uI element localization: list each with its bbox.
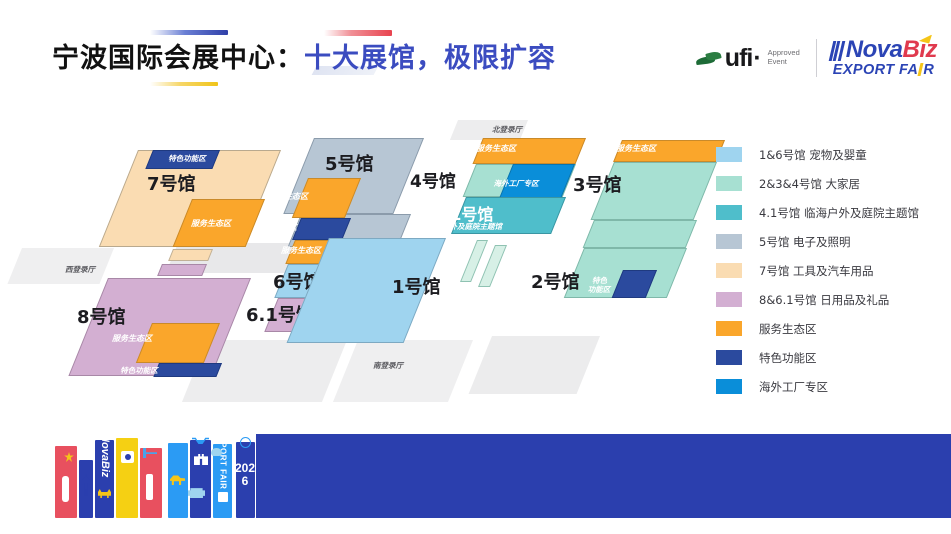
novabiz-tagline-left: EXPORT FA: [833, 62, 919, 78]
hall-4-label: 4号馆: [410, 167, 456, 192]
legend-swatch: [716, 350, 742, 365]
slide-footer: NovaBiz EXPORT FAIR 2026: [0, 428, 951, 534]
legend-swatch: [716, 234, 742, 249]
legend-swatch: [716, 176, 742, 191]
hall-7-service-label: 服务生态区: [175, 218, 247, 229]
footer-novabiz-text: NovaBiz: [99, 434, 111, 474]
legend-label: 5号馆 电子及照明: [759, 234, 850, 250]
hall-5-feature-label: 特色功能区: [243, 222, 313, 233]
footer-blue-bar: [256, 434, 951, 518]
legend-label: 7号馆 工具及汽车用品: [759, 263, 873, 279]
banner-strip-blue-person: [79, 460, 93, 518]
hall-5-service-label: 服务生态区: [252, 191, 324, 202]
hall-4-1-sub-label: 临海户外及庭院主题馆: [412, 221, 517, 232]
base-plate-bottom-right: [469, 336, 600, 394]
globe-icon: [240, 437, 251, 448]
hall-1-label: 1号馆: [392, 273, 441, 299]
legend-swatch: [716, 147, 742, 162]
hall-7-stub: [168, 249, 213, 261]
legend-hall-4-1[interactable]: 4.1号馆 临海户外及庭院主题馆: [716, 198, 946, 227]
slide-header: 宁波国际会展中心：十大展馆，极限扩容 ufi · Approved Event …: [0, 0, 951, 100]
page-title: 宁波国际会展中心：十大展馆，极限扩容: [52, 36, 556, 75]
base-plate-west: [7, 248, 114, 284]
legend-label: 海外工厂专区: [759, 379, 828, 395]
hall-3-block-mid[interactable]: [583, 220, 697, 248]
logo-divider: [816, 39, 817, 77]
ufi-logo: ufi · Approved Event: [696, 46, 816, 71]
south-entrance-label: 南登录厅: [373, 360, 403, 371]
page-title-blue: 十大展馆，极限扩容: [304, 43, 556, 74]
footer-banner-strips: NovaBiz EXPORT FAIR 2026: [55, 434, 260, 518]
hall-2-label: 2号馆: [531, 268, 580, 294]
legend-feature[interactable]: 特色功能区: [716, 343, 946, 372]
novabiz-tagline: EXPORT FAR: [833, 63, 937, 79]
novabiz-n: N: [846, 36, 863, 63]
hall-7-feature-label: 特色功能区: [152, 153, 222, 164]
legend-swatch: [716, 263, 742, 278]
floor-plan-map: 特色功能区 服务生态区 7号馆 服务生态区 特色功能区 8号馆 5号馆 服务生态…: [0, 108, 715, 408]
base-plate-bottom-mid: [333, 340, 473, 402]
footer-year-text: 2026: [233, 462, 257, 488]
legend-swatch: [716, 205, 742, 220]
decor-bar-yellow: [150, 82, 218, 86]
banner-strip-yellow: [116, 438, 138, 518]
legend-hall-7[interactable]: 7号馆 工具及汽车用品: [716, 256, 946, 285]
ufi-dot: ·: [753, 46, 761, 71]
hall-8-label: 8号馆: [77, 303, 126, 329]
cloud-icon: [211, 448, 222, 456]
ufi-wordmark: ufi: [725, 46, 753, 71]
ufi-leaf-icon: [696, 51, 722, 66]
hall-7-label: 7号馆: [147, 170, 196, 196]
legend-swatch: [716, 379, 742, 394]
suitcase-icon: [218, 492, 228, 502]
north-entrance-label: 北登录厅: [492, 124, 522, 135]
hall-3-service-label: 服务生态区: [600, 143, 672, 154]
logo-group: ufi · Approved Event NovaBiz EXPORT FAR: [696, 32, 937, 84]
legend-label: 特色功能区: [759, 350, 817, 366]
banner-strip-darkblue-1: [190, 440, 211, 518]
novabiz-wordmark: NovaBiz: [833, 38, 937, 62]
camera-lens-icon: [125, 454, 131, 460]
ufi-approved-event: Approved Event: [765, 49, 800, 66]
ufi-sub-line2: Event: [768, 58, 800, 67]
decor-bar-blue: [150, 30, 228, 35]
hall-4-service-label: 服务生态区: [460, 143, 532, 154]
legend-label: 8&6.1号馆 日用品及礼品: [759, 292, 889, 308]
legend-hall-2-3-4[interactable]: 2&3&4号馆 大家居: [716, 169, 946, 198]
hall-3-label: 3号馆: [573, 171, 622, 197]
slide-root: 宁波国际会展中心：十大展馆，极限扩容 ufi · Approved Event …: [0, 0, 951, 534]
legend-label: 4.1号馆 临海户外及庭院主题馆: [759, 205, 919, 221]
legend-hall-1-6[interactable]: 1&6号馆 宠物及婴童: [716, 140, 946, 169]
bottle-icon: [62, 476, 69, 502]
hall-2-feature-label-line2: 功能区: [579, 284, 619, 295]
lamp-icon: [146, 474, 153, 500]
legend-hall-8-6-1[interactable]: 8&6.1号馆 日用品及礼品: [716, 285, 946, 314]
novabiz-slash-icon: [831, 41, 843, 61]
legend-panel: 1&6号馆 宠物及婴童 2&3&4号馆 大家居 4.1号馆 临海户外及庭院主题馆…: [716, 140, 946, 401]
page-title-colon: ：: [276, 43, 304, 74]
novabiz-logo: NovaBiz EXPORT FAR: [831, 38, 937, 79]
hall-8-stub: [157, 264, 207, 276]
legend-label: 2&3&4号馆 大家居: [759, 176, 860, 192]
novabiz-ova: ova: [863, 36, 903, 63]
hall-4-overseas-label: 海外工厂专区: [480, 178, 552, 189]
novabiz-b: B: [902, 36, 919, 63]
legend-overseas[interactable]: 海外工厂专区: [716, 372, 946, 401]
legend-label: 1&6号馆 宠物及婴童: [759, 147, 867, 163]
legend-swatch: [716, 292, 742, 307]
legend-swatch: [716, 321, 742, 336]
hall-8-feature-label: 特色功能区: [104, 365, 174, 376]
novabiz-tagline-right: R: [923, 62, 934, 78]
west-entrance-label: 西登录厅: [65, 264, 95, 275]
hall-8-service-label: 服务生态区: [96, 333, 168, 344]
legend-service[interactable]: 服务生态区: [716, 314, 946, 343]
legend-hall-5[interactable]: 5号馆 电子及照明: [716, 227, 946, 256]
hall-5-label: 5号馆: [325, 150, 374, 176]
page-title-black: 宁波国际会展中心: [52, 43, 276, 74]
legend-label: 服务生态区: [759, 321, 817, 337]
